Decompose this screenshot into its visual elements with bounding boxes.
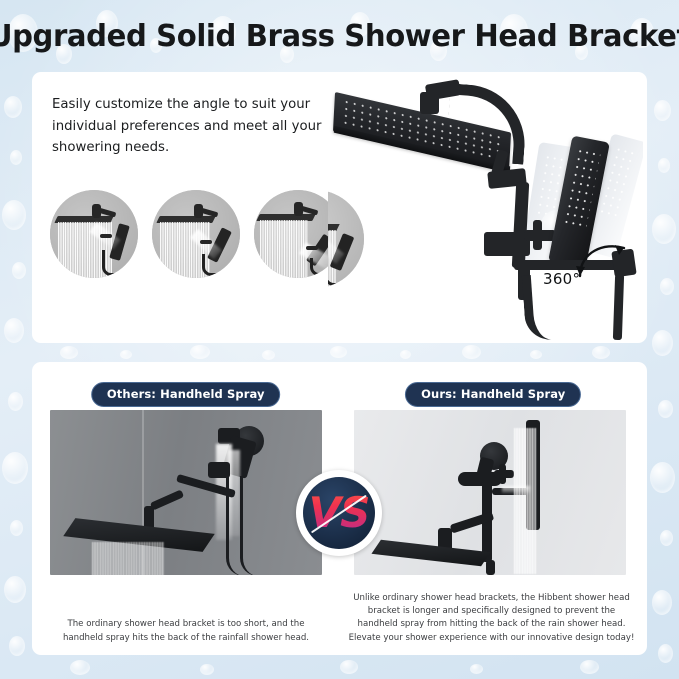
rotation-arrow-icon — [574, 236, 632, 278]
comparison-ours: Ours: Handheld Spray Unlike ordinary sho… — [340, 362, 648, 655]
ours-badge: Ours: Handheld Spray — [405, 382, 581, 407]
rotation-angle-label: 360° — [543, 270, 580, 288]
others-badge: Others: Handheld Spray — [91, 382, 281, 407]
comparison-others: Others: Handheld Spray The ordinary show… — [32, 362, 340, 655]
others-photo — [50, 410, 322, 575]
others-caption: The ordinary shower head bracket is too … — [50, 618, 322, 645]
vs-badge: VS — [296, 470, 382, 556]
shower-arm — [445, 83, 528, 164]
ours-caption: Unlike ordinary shower head brackets, th… — [348, 592, 636, 645]
angle-thumbnail-list — [50, 190, 342, 278]
valve-crosspiece — [533, 220, 542, 250]
hero-inset-thumbnail — [328, 190, 364, 288]
swivel-nut — [420, 92, 439, 114]
hose-right — [613, 274, 624, 340]
page-header: Upgraded Solid Brass Shower Head Bracket — [0, 0, 679, 72]
ours-photo — [354, 410, 626, 575]
angle-thumbnail-1 — [50, 190, 138, 278]
angle-thumbnail-2 — [152, 190, 240, 278]
product-infographic: Upgraded Solid Brass Shower Head Bracket… — [0, 0, 679, 679]
page-title: Upgraded Solid Brass Shower Head Bracket — [0, 19, 679, 54]
hero-product-image: 360° — [328, 78, 643, 340]
feature-panel: Easily customize the angle to suit your … — [32, 72, 647, 343]
intro-text: Easily customize the angle to suit your … — [52, 94, 322, 159]
